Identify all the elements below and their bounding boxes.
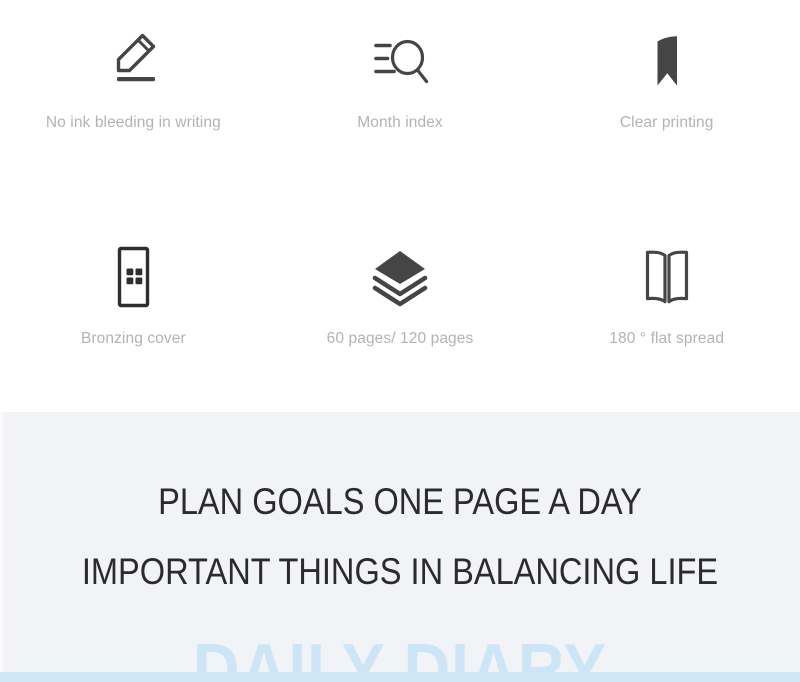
feature-label: No ink bleeding in writing (46, 114, 221, 133)
open-book-icon (630, 240, 704, 314)
feature-row-1: No ink bleeding in writing Month index (0, 24, 800, 133)
book-cover-grid-icon (96, 240, 170, 314)
feature-label: 60 pages/ 120 pages (327, 330, 474, 349)
hero-panel: PLAN GOALS ONE PAGE A DAY IMPORTANT THIN… (0, 412, 800, 682)
search-list-index-icon (363, 24, 437, 98)
feature-item-no-ink-bleeding: No ink bleeding in writing (0, 24, 267, 133)
feature-item-clear-printing: Clear printing (533, 24, 800, 133)
feature-label: Month index (357, 114, 443, 133)
feature-row-2: Bronzing cover 60 pages/ 120 pages (0, 240, 800, 349)
features-panel: No ink bleeding in writing Month index (0, 0, 800, 412)
feature-label: Clear printing (620, 114, 714, 133)
feature-label: 180 ° flat spread (609, 330, 724, 349)
feature-item-bronzing-cover: Bronzing cover (0, 240, 267, 349)
feature-item-flat-spread: 180 ° flat spread (533, 240, 800, 349)
product-feature-page: No ink bleeding in writing Month index (0, 0, 800, 682)
feature-item-page-count: 60 pages/ 120 pages (267, 240, 534, 349)
hero-headings: PLAN GOALS ONE PAGE A DAY IMPORTANT THIN… (0, 480, 800, 594)
layers-stack-icon (363, 240, 437, 314)
feature-label: Bronzing cover (81, 330, 186, 349)
pencil-underline-icon (96, 24, 170, 98)
hero-underbar (0, 672, 800, 682)
hero-heading-line-2: IMPORTANT THINGS IN BALANCING LIFE (48, 550, 752, 594)
feature-item-month-index: Month index (267, 24, 534, 133)
bookmark-ribbon-icon (630, 24, 704, 98)
hero-heading-line-1: PLAN GOALS ONE PAGE A DAY (48, 480, 752, 524)
